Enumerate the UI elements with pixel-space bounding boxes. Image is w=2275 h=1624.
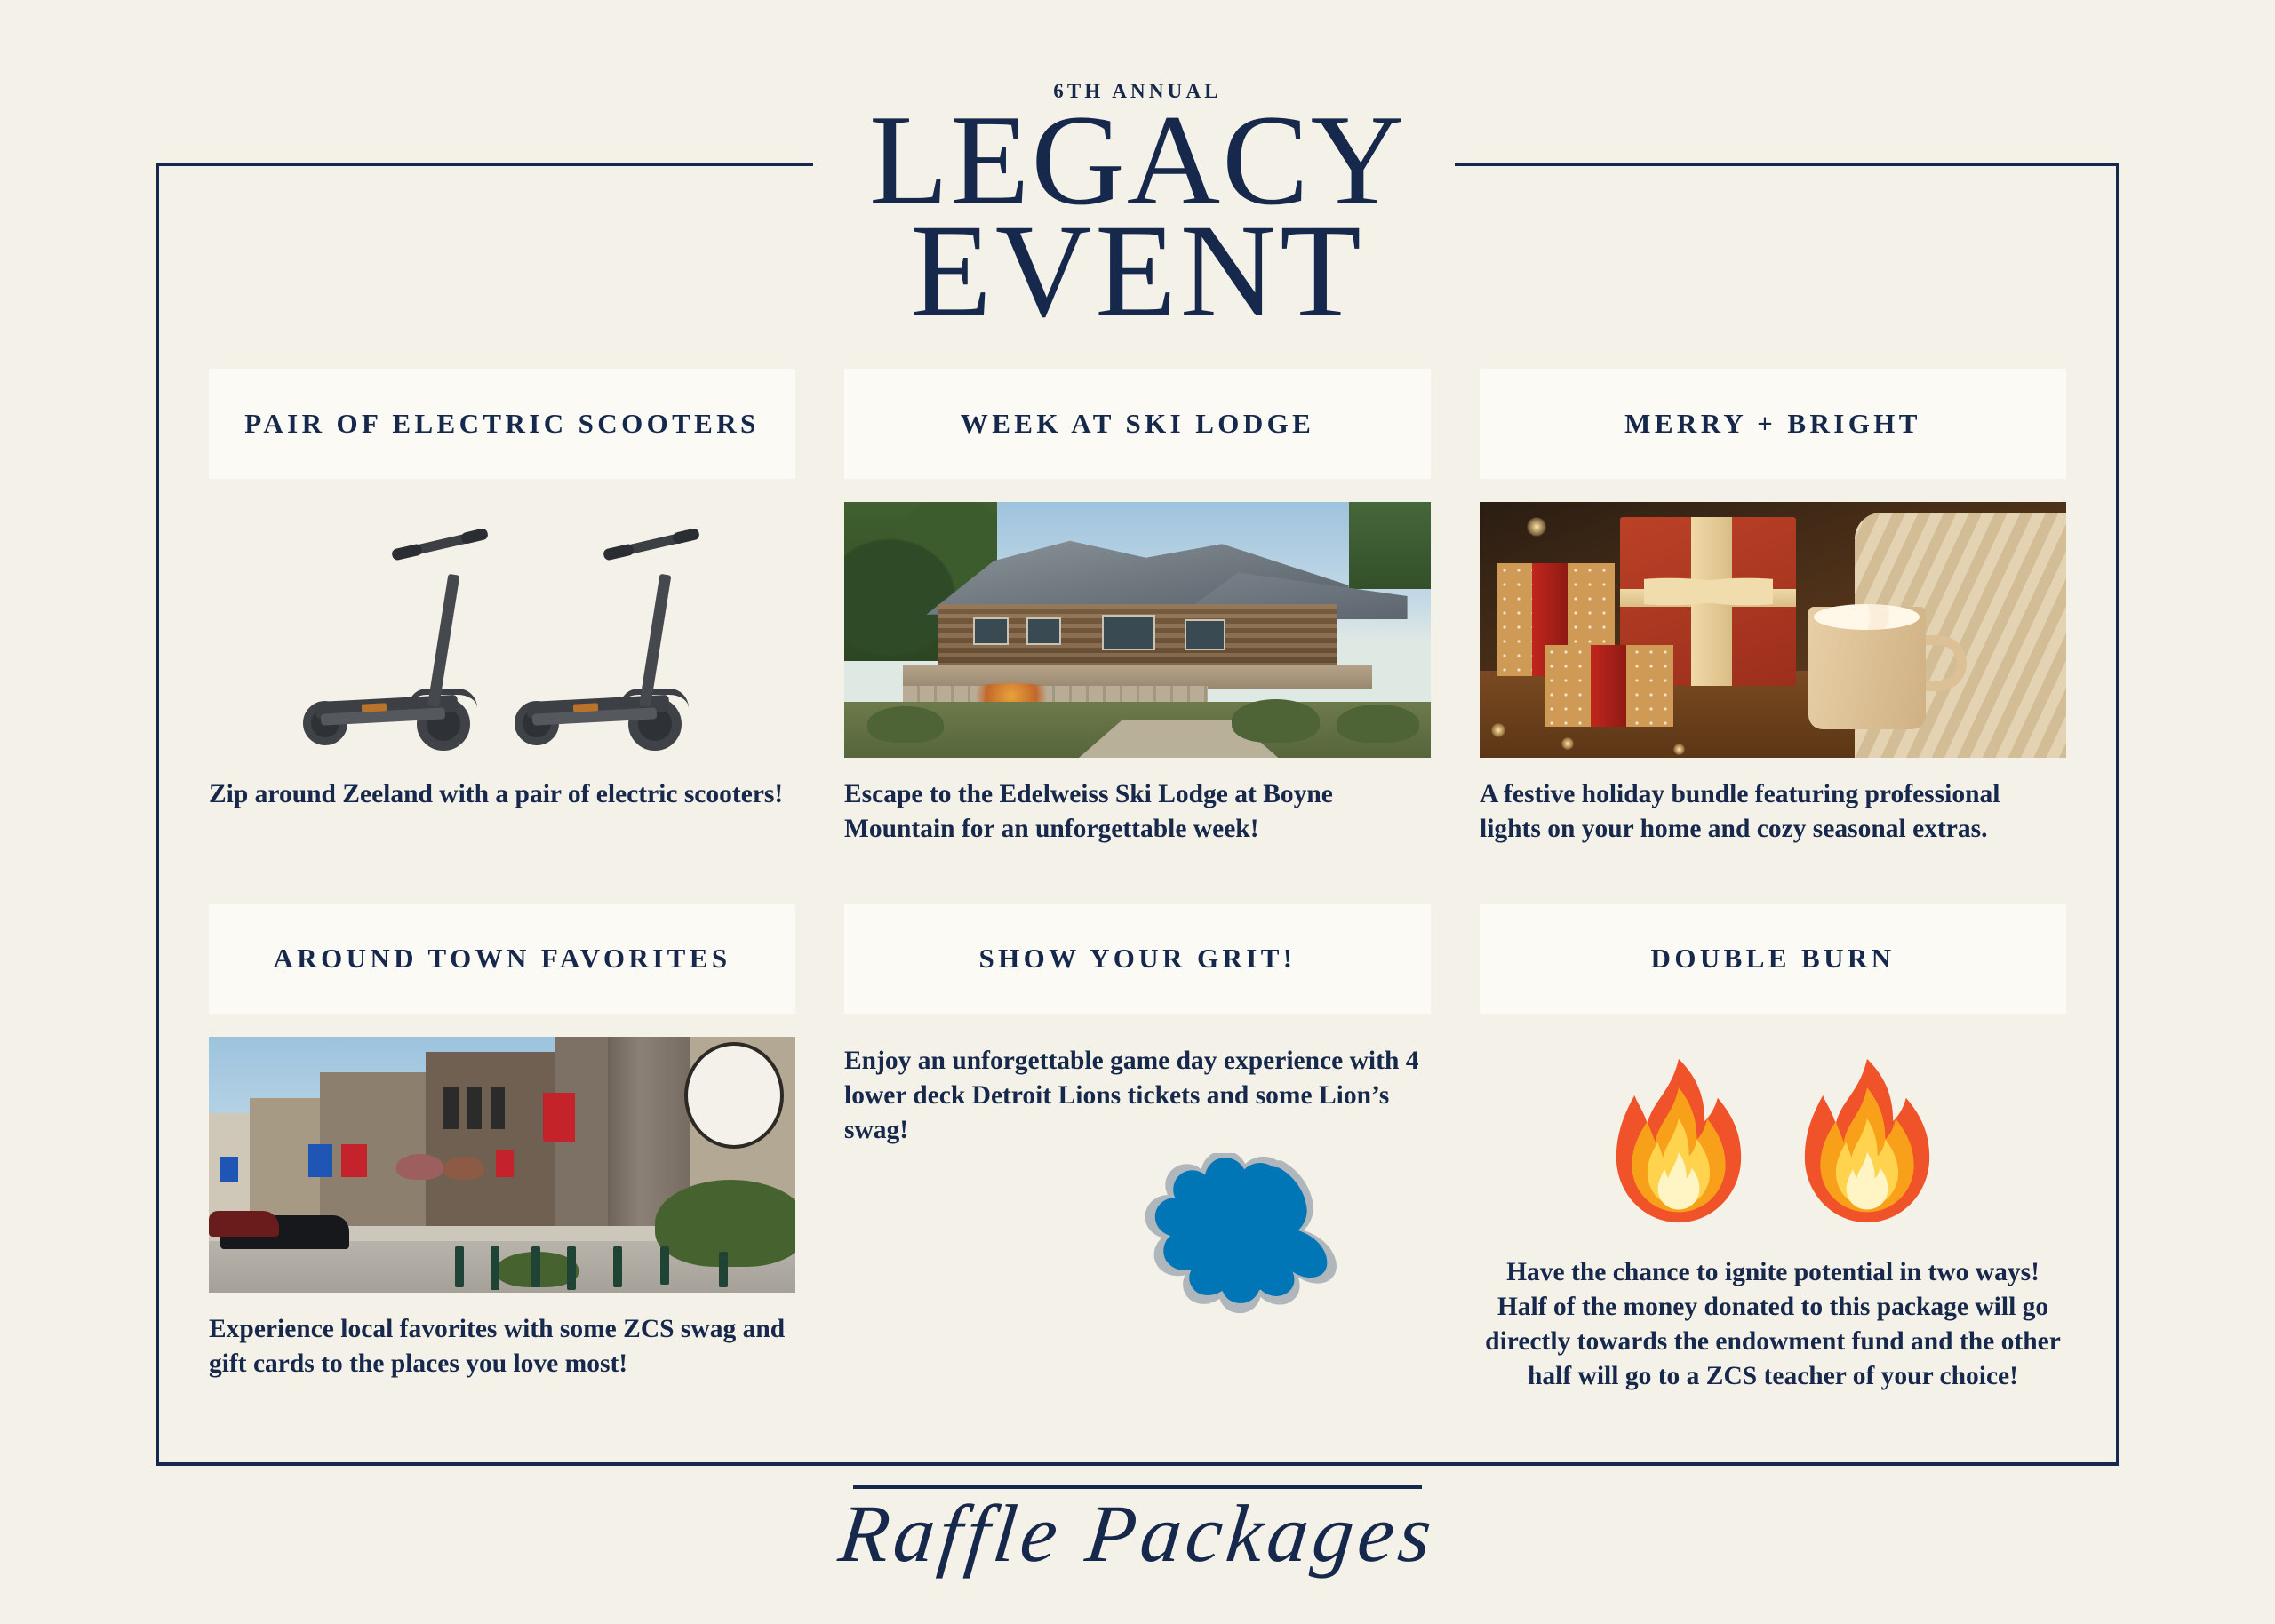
card-title: WEEK AT SKI LODGE (961, 405, 1314, 442)
package-grid: PAIR OF ELECTRIC SCOOTERS (156, 369, 2119, 1394)
flame-icon (1612, 1056, 1745, 1225)
flame-icon (1800, 1056, 1934, 1225)
electric-scooters-illustration (209, 502, 795, 758)
double-flame-icons (1480, 1047, 2066, 1225)
card-description: Escape to the Edelweiss Ski Lodge at Boy… (844, 777, 1431, 847)
page-title: LEGACY EVENT (0, 105, 2275, 329)
card-title: DOUBLE BURN (1651, 940, 1896, 977)
detroit-lions-logo (844, 1153, 1431, 1344)
scooter-icon (303, 529, 490, 751)
card-description: Enjoy an unforgettable game day experien… (844, 1044, 1431, 1148)
card-description: Experience local favorites with some ZCS… (209, 1312, 795, 1381)
raffle-packages-poster: 6TH ANNUAL LEGACY EVENT PAIR OF ELECTRIC… (0, 0, 2275, 1624)
card-description: A festive holiday bundle featuring profe… (1480, 777, 2066, 847)
lion-icon (1102, 1153, 1377, 1344)
card-title: MERRY + BRIGHT (1624, 405, 1921, 442)
card-header: SHOW YOUR GRIT! (844, 904, 1431, 1014)
package-card-around-town: AROUND TOWN FAVORITES (209, 904, 795, 1394)
card-header: DOUBLE BURN (1480, 904, 2066, 1014)
card-description: Have the chance to ignite potential in t… (1480, 1255, 2066, 1394)
downtown-zeeland-photo (209, 1037, 795, 1293)
package-card-double-burn: DOUBLE BURN (1480, 904, 2066, 1394)
card-title: SHOW YOUR GRIT! (978, 940, 1296, 977)
package-card-show-your-grit: SHOW YOUR GRIT! Enjoy an unforgettable g… (844, 904, 1431, 1394)
holiday-gifts-photo (1480, 502, 2066, 758)
scooter-icon (515, 529, 701, 751)
card-title: PAIR OF ELECTRIC SCOOTERS (244, 405, 759, 442)
package-card-merry-bright: MERRY + BRIGHT (1480, 369, 2066, 847)
card-title: AROUND TOWN FAVORITES (274, 940, 731, 977)
title-line-event: EVENT (0, 215, 2275, 329)
ski-lodge-photo (844, 502, 1431, 758)
package-card-electric-scooters: PAIR OF ELECTRIC SCOOTERS (209, 369, 795, 847)
footer-script-text: Raffle Packages (0, 1489, 2275, 1579)
card-header: AROUND TOWN FAVORITES (209, 904, 795, 1014)
frame-bottom-rule (156, 1462, 2119, 1466)
card-description: Zip around Zeeland with a pair of electr… (209, 777, 795, 812)
card-header: MERRY + BRIGHT (1480, 369, 2066, 479)
card-header: PAIR OF ELECTRIC SCOOTERS (209, 369, 795, 479)
package-card-ski-lodge: WEEK AT SKI LODGE (844, 369, 1431, 847)
card-header: WEEK AT SKI LODGE (844, 369, 1431, 479)
